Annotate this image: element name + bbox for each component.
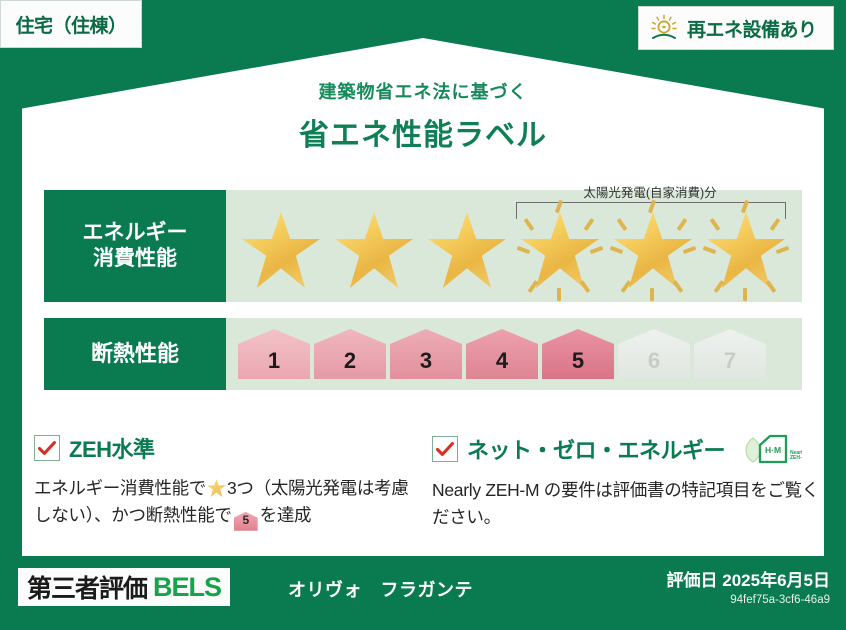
star-base xyxy=(236,196,326,296)
star-ray xyxy=(557,288,561,301)
evaluation-info: 評価日 2025年6月5日 94fef75a-3cf6-46a9 xyxy=(667,566,830,606)
star-base xyxy=(422,196,512,296)
star-rating-strip xyxy=(226,190,791,302)
insulation-chip: 1 xyxy=(238,329,310,379)
nearly-zeh-m-logo: H·M Nearly ZEH-M xyxy=(740,432,802,466)
nzeb-criteria-body: Nearly ZEH-M の要件は評価書の特記項目をご覧ください。 xyxy=(432,477,824,531)
nzeb-criteria-title: ネット・ゼロ・エネルギー xyxy=(467,433,725,465)
star-ray xyxy=(590,246,604,254)
dwelling-type-label: 住宅（住棟） xyxy=(15,11,126,38)
insulation-caption-label: 断熱性能 xyxy=(91,340,179,368)
footer: 第三者評価 BELS オリヴォ フラガンテ 評価日 2025年6月5日 94fe… xyxy=(0,556,846,630)
star-ray xyxy=(743,288,747,301)
building-name: オリヴォ フラガンテ xyxy=(288,576,473,602)
check-icon xyxy=(436,442,454,457)
zeh-body-part1: エネルギー消費性能で xyxy=(34,478,206,498)
star-ray xyxy=(584,218,595,231)
star-icon xyxy=(207,479,226,497)
star-ray xyxy=(710,218,721,231)
star-icon xyxy=(335,212,413,288)
nzeb-checkbox[interactable] xyxy=(432,436,458,462)
star-ray xyxy=(580,280,591,293)
star-ray xyxy=(617,218,628,231)
zeh-criteria-title: ZEH水準 xyxy=(69,432,155,464)
star-base xyxy=(329,196,419,296)
star-ray xyxy=(741,200,749,214)
solar-sun-icon xyxy=(649,14,679,42)
evaluation-id: 94fef75a-3cf6-46a9 xyxy=(667,594,830,606)
star-ray xyxy=(677,218,688,231)
star-ray xyxy=(610,246,624,254)
energy-performance-body: 太陽光発電(自家消費)分 xyxy=(226,190,802,302)
nzeb-criteria-block: ネット・ゼロ・エネルギー H·M Nearly ZEH-M Nearly ZEH… xyxy=(432,432,824,531)
star-ray xyxy=(555,200,563,214)
insulation-chip: 5 xyxy=(542,329,614,379)
title-main: 省エネ性能ラベル xyxy=(0,110,846,154)
zeh-checkbox[interactable] xyxy=(34,435,60,461)
dwelling-type-tab: 住宅（住棟） xyxy=(0,0,142,48)
energy-performance-caption: エネルギー 消費性能 xyxy=(44,190,226,302)
insulation-performance-caption: 断熱性能 xyxy=(44,318,226,390)
energy-caption-line1: エネルギー xyxy=(83,220,188,246)
insulation-chip: 4 xyxy=(466,329,538,379)
insulation-chip: 2 xyxy=(314,329,386,379)
bels-jp-label: 第三者評価 xyxy=(27,569,147,605)
star-ray xyxy=(703,246,717,254)
insulation-grade-chip-icon: 5 xyxy=(234,512,258,531)
star-ray xyxy=(524,218,535,231)
zeh-body-part3: を達成 xyxy=(260,505,312,525)
bels-en-label: BELS xyxy=(153,572,221,603)
star-ray xyxy=(776,246,790,254)
star-ray xyxy=(673,280,684,293)
star-icon xyxy=(428,212,506,288)
nzeb-criteria-header: ネット・ゼロ・エネルギー H·M Nearly ZEH-M xyxy=(432,432,824,466)
star-ray xyxy=(648,200,656,214)
energy-caption-line2: 消費性能 xyxy=(93,246,177,272)
star-icon xyxy=(242,212,320,288)
svg-text:ZEH-M: ZEH-M xyxy=(790,455,802,461)
zeh-criteria-block: ZEH水準 エネルギー消費性能で3つ（太陽光発電は考慮しない）、かつ断熱性能で5… xyxy=(34,432,414,531)
star-ray xyxy=(650,288,654,301)
star-solar xyxy=(515,196,605,296)
energy-performance-row: エネルギー 消費性能 太陽光発電(自家消費)分 xyxy=(44,190,802,302)
zeh-criteria-header: ZEH水準 xyxy=(34,432,414,464)
insulation-chip-strip: 1234567 xyxy=(226,318,766,390)
renewable-badge-label: 再エネ設備あり xyxy=(687,15,817,42)
insulation-chip: 3 xyxy=(390,329,462,379)
star-ray xyxy=(770,218,781,231)
energy-performance-label: 住宅（住棟） 再エネ設備あり 建築物省エネ法に基づく 省エネ性能ラベル エネル xyxy=(0,0,846,630)
svg-text:H·M: H·M xyxy=(765,445,781,455)
renewable-energy-badge: 再エネ設備あり xyxy=(638,6,834,50)
zeh-criteria-body: エネルギー消費性能で3つ（太陽光発電は考慮しない）、かつ断熱性能で5を達成 xyxy=(34,475,414,531)
star-ray xyxy=(683,246,697,254)
title-block: 建築物省エネ法に基づく 省エネ性能ラベル xyxy=(0,78,846,154)
insulation-chip: 6 xyxy=(618,329,690,379)
star-ray xyxy=(766,280,777,293)
insulation-performance-row: 断熱性能 1234567 xyxy=(44,318,802,390)
star-solar xyxy=(701,196,791,296)
insulation-chip: 7 xyxy=(694,329,766,379)
evaluation-date: 評価日 2025年6月5日 xyxy=(667,566,830,591)
star-ray xyxy=(517,246,531,254)
check-icon xyxy=(38,441,56,456)
insulation-performance-body: 1234567 xyxy=(226,318,802,390)
bels-badge: 第三者評価 BELS xyxy=(18,568,230,606)
star-solar xyxy=(608,196,698,296)
title-subtitle: 建築物省エネ法に基づく xyxy=(0,78,846,104)
